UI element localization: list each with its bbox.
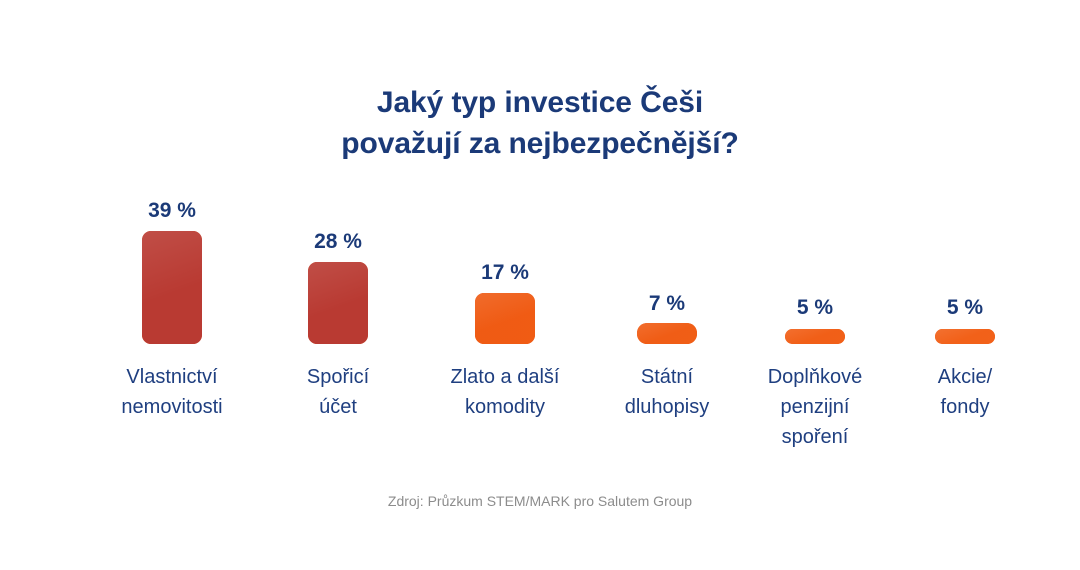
bar-category-label: Spořicí účet xyxy=(244,362,432,422)
bar-value-label: 5 % xyxy=(731,296,899,320)
bar-gradient-fill xyxy=(142,231,202,344)
bar-rect xyxy=(785,329,845,344)
bar-gradient-fill xyxy=(637,323,697,344)
bar-wrapper xyxy=(142,231,202,344)
category-line: účet xyxy=(244,392,432,422)
bar-value-label: 17 % xyxy=(421,261,589,285)
category-line: fondy xyxy=(871,392,1059,422)
bar-gradient-fill xyxy=(935,329,995,344)
category-line: spoření xyxy=(721,422,909,452)
bar-value-label: 39 % xyxy=(88,199,256,223)
bar-wrapper xyxy=(637,323,697,344)
category-line: Vlastnictví xyxy=(78,362,266,392)
chart-source-note: Zdroj: Průzkum STEM/MARK pro Salutem Gro… xyxy=(0,493,1080,509)
category-line: Spořicí xyxy=(244,362,432,392)
bar-rect xyxy=(935,329,995,344)
bar-gradient-fill xyxy=(475,293,535,344)
bar-gradient-fill xyxy=(308,262,368,344)
bar-rect xyxy=(308,262,368,344)
bar-category-label: Zlato a další komodity xyxy=(411,362,599,422)
category-line: Akcie/ xyxy=(871,362,1059,392)
bar-rect xyxy=(637,323,697,344)
bar-rect xyxy=(142,231,202,344)
bar-wrapper xyxy=(785,329,845,344)
bar-wrapper xyxy=(935,329,995,344)
category-line: komodity xyxy=(411,392,599,422)
category-line: Zlato a další xyxy=(411,362,599,392)
bar-category-label: Vlastnictví nemovitosti xyxy=(78,362,266,422)
bar-rect xyxy=(475,293,535,344)
category-line: nemovitosti xyxy=(78,392,266,422)
bar-wrapper xyxy=(308,262,368,344)
bar-gradient-fill xyxy=(785,329,845,344)
bar-category-label: Akcie/ fondy xyxy=(871,362,1059,422)
bar-wrapper xyxy=(475,293,535,344)
chart-plot-area: 39 % Vlastnictví nemovitosti 28 % xyxy=(0,0,1080,470)
bar-value-label: 5 % xyxy=(881,296,1049,320)
bar-value-label: 7 % xyxy=(583,292,751,316)
infographic-chart: Jaký typ investice Češi považují za nejb… xyxy=(0,0,1080,570)
bar-value-label: 28 % xyxy=(254,230,422,254)
